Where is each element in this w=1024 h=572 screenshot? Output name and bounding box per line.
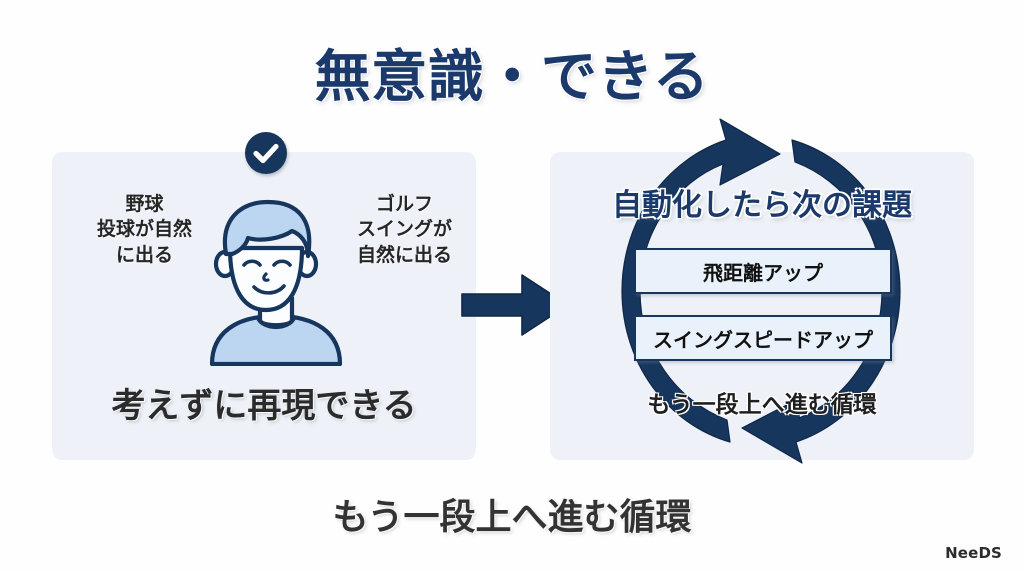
- watermark: NeeDS: [945, 544, 1002, 562]
- person-avatar-icon: [196, 194, 356, 366]
- slide-canvas: 無意識・できる 野球 投球が自然 に出る ゴルフ スイングが 自然に出る: [0, 0, 1024, 572]
- right-panel-heading: 自動化したら次の課題: [550, 180, 974, 224]
- check-circle-icon: [245, 132, 287, 174]
- bottom-caption: もう一段上へ進む循環: [0, 488, 1024, 540]
- page-title: 無意識・できる: [0, 32, 1024, 113]
- left-panel-caption: 考えずに再現できる: [52, 378, 476, 427]
- cycle-box-distance: 飛距離アップ: [634, 248, 892, 294]
- cycle-box-swing-speed: スイングスピードアップ: [634, 315, 892, 361]
- cycle-footnote: もう一段上へ進む循環: [550, 385, 974, 419]
